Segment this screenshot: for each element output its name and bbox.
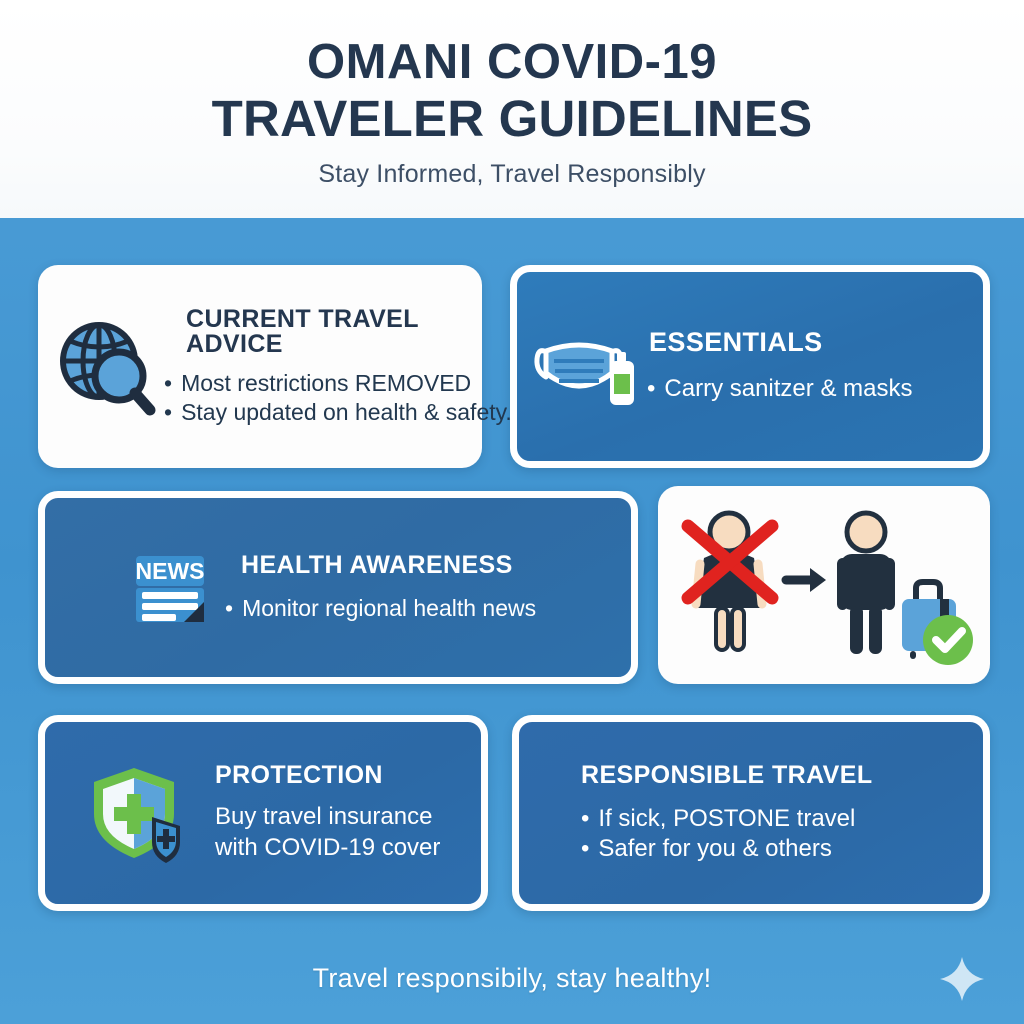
bullet-icon: • — [164, 369, 172, 397]
sick-traveler-crossed-out-icon — [674, 500, 974, 670]
bullet-icon: • — [581, 804, 589, 833]
infographic-poster: OMANI COVID-19 TRAVELER GUIDELINES Stay … — [0, 0, 1024, 1024]
list-item: • Carry sanitzer & masks — [647, 374, 983, 403]
card-responsible-travel[interactable]: RESPONSIBLE TRAVEL • If sick, POSTONE tr… — [512, 715, 990, 911]
card-title: CURRENT TRAVEL ADVICE — [186, 307, 482, 357]
list-item: • Most restrictions REMOVED — [164, 369, 482, 397]
card-bullet-list: • If sick, POSTONE travel • Safer for yo… — [581, 804, 983, 863]
poster-title-line-1: OMANI COVID-19 — [307, 35, 717, 91]
arrow-right-icon — [786, 568, 826, 592]
poster-footer: Travel responsibily, stay healthy! — [0, 933, 1024, 1024]
bullet-text: Carry sanitzer & masks — [664, 374, 912, 403]
card-body-line-1: Buy travel insurance — [215, 802, 481, 832]
poster-subtitle: Stay Informed, Travel Responsibly — [318, 160, 705, 189]
card-title: PROTECTION — [215, 763, 481, 788]
news-document-icon: NEWS — [123, 542, 225, 634]
bullet-text: Safer for you & others — [598, 834, 831, 863]
list-item: • Stay updated on health & safety. — [164, 398, 482, 426]
bullet-icon: • — [647, 374, 655, 403]
card-protection[interactable]: PROTECTION Buy travel insurance with COV… — [38, 715, 488, 911]
card-title: RESPONSIBLE TRAVEL — [581, 763, 983, 788]
footer-message: Travel responsibily, stay healthy! — [313, 963, 712, 994]
bullet-icon: • — [164, 398, 172, 426]
sparkle-icon — [938, 955, 986, 1008]
card-bullet-list: • Most restrictions REMOVED • Stay updat… — [164, 369, 482, 425]
bullet-text: Monitor regional health news — [242, 594, 536, 622]
bullet-text: Most restrictions REMOVED — [181, 369, 471, 397]
card-health-awareness[interactable]: NEWS HEALTH AWARENESS • Monitor regional… — [38, 491, 638, 684]
poster-header: OMANI COVID-19 TRAVELER GUIDELINES Stay … — [0, 0, 1024, 218]
card-title: ESSENTIALS — [649, 329, 983, 356]
bullet-icon: • — [581, 834, 589, 863]
card-body-line-2: with COVID-19 cover — [215, 833, 481, 863]
medical-shield-icon — [81, 762, 193, 864]
bullet-text: If sick, POSTONE travel — [598, 804, 855, 833]
green-check-icon — [923, 615, 973, 665]
male-figure — [837, 513, 895, 654]
card-essentials[interactable]: ESSENTIALS • Carry sanitzer & masks — [510, 265, 990, 468]
card-bullet-list: • Monitor regional health news — [225, 594, 631, 622]
news-icon-label: NEWS — [136, 558, 205, 584]
bullet-icon: • — [225, 594, 233, 622]
small-shield-icon — [152, 817, 180, 863]
poster-title-line-2: TRAVELER GUIDELINES — [212, 90, 813, 148]
card-title: HEALTH AWARENESS — [241, 553, 631, 578]
bullet-text: Stay updated on health & safety. — [181, 398, 512, 426]
card-travel-pictogram[interactable] — [658, 486, 990, 684]
mask-sanitizer-icon — [525, 321, 647, 413]
list-item: • If sick, POSTONE travel — [581, 804, 983, 833]
card-bullet-list: • Carry sanitzer & masks — [647, 374, 983, 403]
card-current-travel-advice[interactable]: CURRENT TRAVEL ADVICE • Most restriction… — [38, 265, 482, 468]
globe-magnifier-icon — [46, 315, 164, 419]
cards-grid: CURRENT TRAVEL ADVICE • Most restriction… — [0, 218, 1024, 933]
list-item: • Monitor regional health news — [225, 594, 631, 622]
list-item: • Safer for you & others — [581, 834, 983, 863]
